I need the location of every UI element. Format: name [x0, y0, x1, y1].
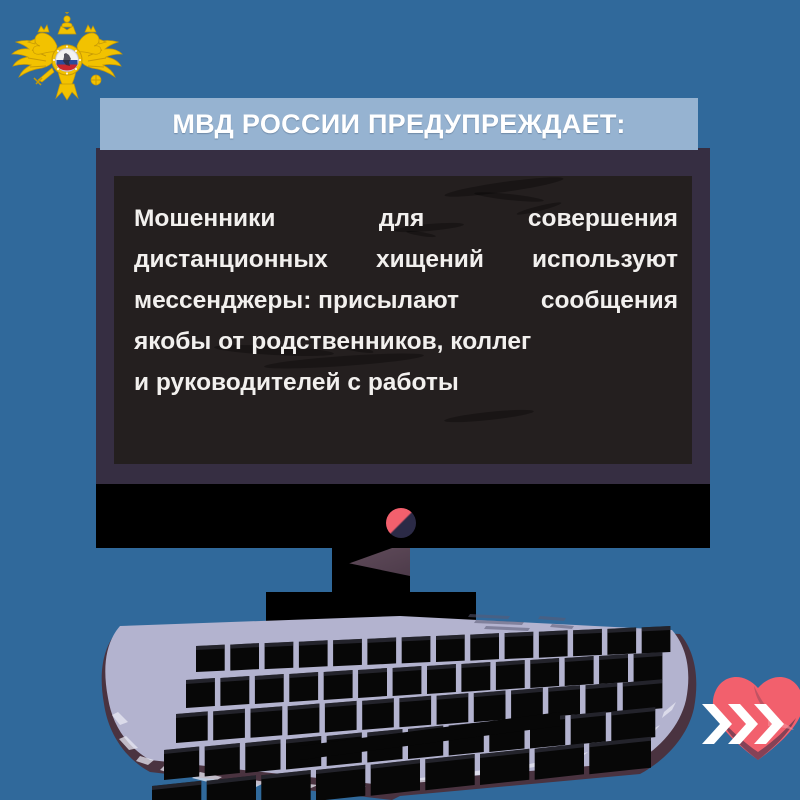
warning-text-line: якобы от родственников, коллег — [134, 321, 678, 362]
poster-canvas: МВД РОССИИ ПРЕДУПРЕЖДАЕТ: Мошенникидлясо… — [0, 0, 800, 800]
warning-text-segment: хищений — [376, 239, 484, 280]
monitor-bezel-inner: Мошенникидлясовершениядистанционныххищен… — [96, 148, 710, 484]
warning-header-banner: МВД РОССИИ ПРЕДУПРЕЖДАЕТ: — [100, 98, 698, 150]
screen-smudge — [444, 407, 534, 424]
warning-text-line: дистанционныххищенийиспользуют — [134, 239, 678, 280]
page-title: МВД РОССИИ ПРЕДУПРЕЖДАЕТ: — [172, 109, 625, 140]
warning-text-segment: сообщения — [541, 280, 678, 321]
warning-text-line: мессенджеры: присылаютсообщения — [134, 280, 678, 321]
warning-text-line: Мошенникидлясовершения — [134, 198, 678, 239]
mvd-eagle-emblem-icon — [8, 12, 126, 104]
warning-text-segment: якобы от родственников, коллег — [134, 328, 531, 355]
monitor-bezel-outer: Мошенникидлясовершениядистанционныххищен… — [96, 148, 710, 484]
warning-text-segment: дистанционных — [134, 239, 328, 280]
warning-text-segment: совершения — [528, 198, 678, 239]
monitor-stand-neck-highlight — [332, 548, 410, 576]
warning-text-segment: используют — [532, 239, 678, 280]
warning-text-line: и руководителей с работы — [134, 362, 678, 403]
warning-text-segment: мессенджеры: присылают — [134, 280, 459, 321]
triple-chevron-right-icon — [700, 700, 788, 748]
warning-text-segment: и руководителей с работы — [134, 369, 459, 396]
warning-message-text: Мошенникидлясовершениядистанционныххищен… — [114, 176, 692, 403]
monitor-screen: Мошенникидлясовершениядистанционныххищен… — [114, 176, 692, 464]
computer-monitor: Мошенникидлясовершениядистанционныххищен… — [96, 148, 710, 548]
monitor-brand-logo-icon — [386, 508, 416, 538]
monitor-stand-neck — [332, 548, 410, 594]
monitor-lower-bezel — [96, 484, 710, 548]
warning-text-segment: для — [379, 198, 424, 239]
computer-keyboard — [0, 600, 800, 800]
warning-text-segment: Мошенники — [134, 198, 275, 239]
